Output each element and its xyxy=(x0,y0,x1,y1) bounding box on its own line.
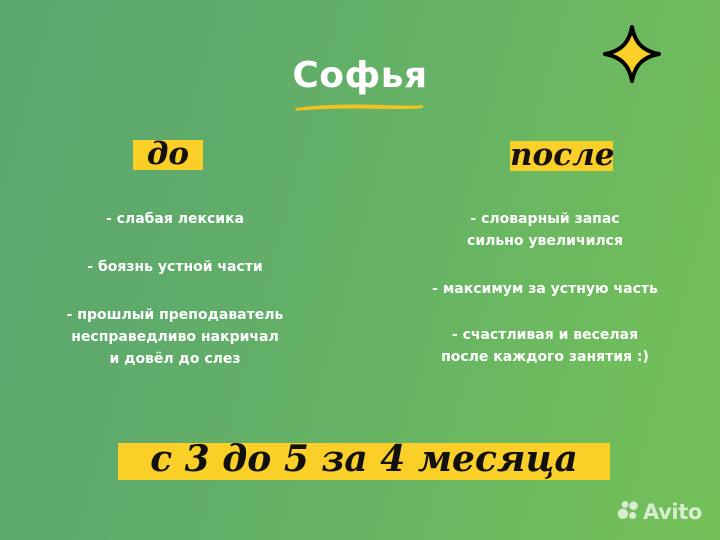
before-item-1: - слабая лексика xyxy=(35,208,315,230)
chip-before-label: до xyxy=(133,139,203,170)
after-item-2: - максимум за устную часть xyxy=(400,278,690,300)
title-brush-underline-icon xyxy=(293,98,425,107)
avito-watermark: Avito xyxy=(617,500,702,524)
page-title-wrap: Софья xyxy=(0,56,720,96)
after-item-1: - словарный запас сильно увеличился xyxy=(400,208,690,252)
slide-canvas: Софья до после - слабая лексика - боязнь… xyxy=(0,0,720,540)
after-item-3: - счастливая и веселая после каждого зан… xyxy=(400,324,690,368)
before-item-3: - прошлый преподаватель несправедливо на… xyxy=(35,304,315,370)
before-item-2: - боязнь устной части xyxy=(35,256,315,278)
page-title: Софья xyxy=(292,56,427,96)
result-banner-text: с 3 до 5 за 4 месяца xyxy=(118,437,610,481)
avito-dots-logo-icon xyxy=(617,499,639,526)
chip-after-label: после xyxy=(510,140,613,171)
avito-watermark-label: Avito xyxy=(643,502,702,523)
